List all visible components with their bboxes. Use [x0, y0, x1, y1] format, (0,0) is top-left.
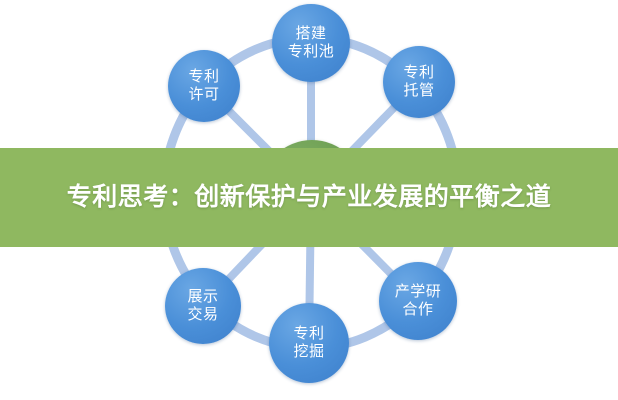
node-label-line-1: 搭建: [295, 25, 326, 43]
node-patent-trusteeship[interactable]: 专利 托管: [383, 46, 455, 118]
page-title: 专利思考：创新保护与产业发展的平衡之道: [39, 181, 579, 214]
node-label-line-1: 展示: [187, 288, 218, 306]
title-banner: 专利思考：创新保护与产业发展的平衡之道: [0, 148, 618, 247]
node-display-trade[interactable]: 展示 交易: [165, 268, 241, 344]
node-label-line-2: 许可: [188, 86, 219, 104]
node-build-patent-pool[interactable]: 搭建 专利池: [272, 4, 350, 82]
node-label-line-1: 专利: [188, 68, 219, 86]
node-label-line-1: 产学研: [395, 283, 442, 301]
node-label-line-2: 挖掘: [293, 343, 324, 361]
node-patent-license[interactable]: 专利 许可: [168, 50, 240, 122]
node-label-line-2: 交易: [187, 306, 218, 324]
node-label-line-2: 合作: [402, 301, 433, 319]
node-label-line-1: 专利: [293, 325, 324, 343]
node-label-line-2: 托管: [403, 82, 434, 100]
node-patent-mining[interactable]: 专利 挖掘: [269, 303, 349, 383]
node-label-line-1: 专利: [403, 64, 434, 82]
image-canvas: 搭建 专利池 专利 托管 专利 许可 转移 转让 运营 合作 产学研 合作 展示…: [0, 0, 618, 400]
node-industry-academia-research[interactable]: 产学研 合作: [379, 262, 457, 340]
node-label-line-2: 专利池: [288, 43, 335, 61]
